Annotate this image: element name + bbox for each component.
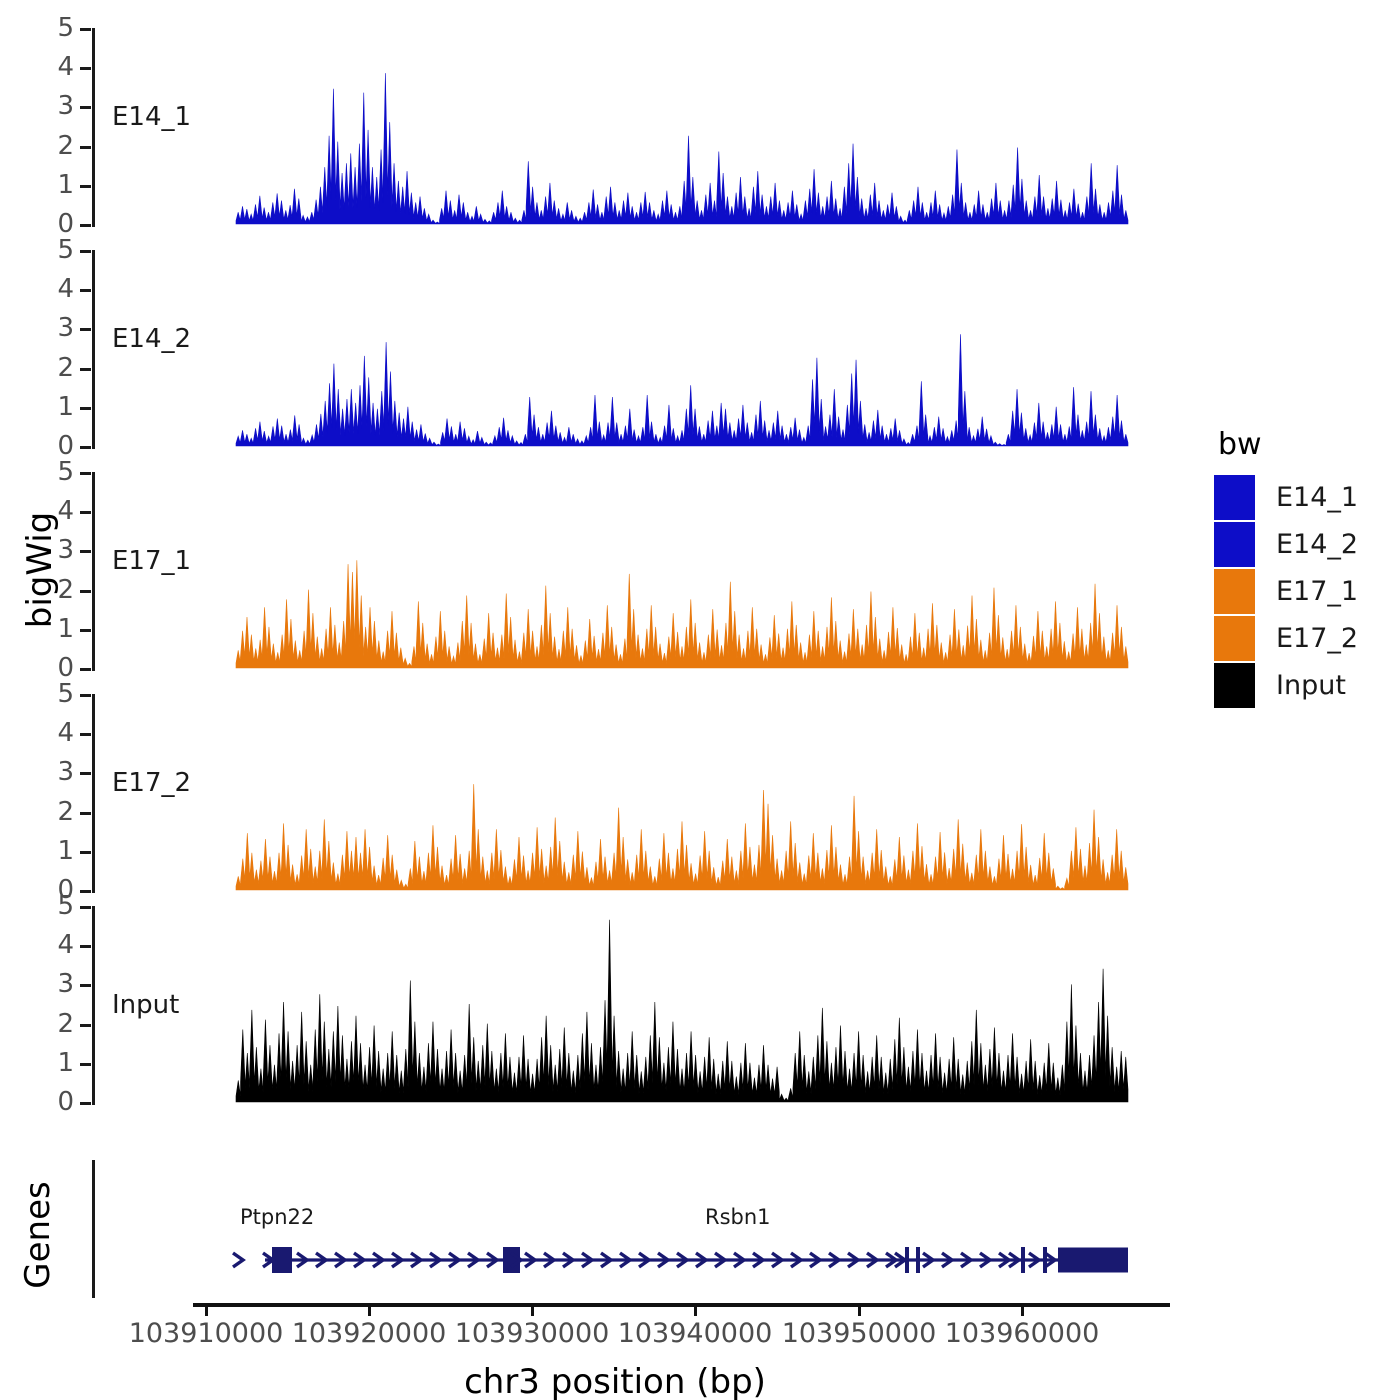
y-tick-label: 5 [48, 15, 74, 41]
y-tick-1 [80, 407, 91, 410]
y-tick-1 [80, 851, 91, 854]
legend-item-e17_1[interactable]: E17_1 [1214, 568, 1394, 615]
y-tick-5 [80, 906, 91, 909]
exon-block [916, 1247, 920, 1273]
y-tick-label: 2 [48, 133, 74, 159]
signal-area-e17_1 [92, 472, 1400, 670]
x-tick-label: 103910000 [129, 1318, 284, 1349]
track-panel-e14_1: 543210E14_1 [0, 28, 1400, 228]
y-tick-label: 3 [48, 971, 74, 997]
y-tick-label: 4 [48, 498, 74, 524]
legend-label: E17_2 [1276, 623, 1358, 654]
y-tick-1 [80, 629, 91, 632]
track-plot-input [92, 906, 1400, 1102]
legend: bw E14_1E14_2E17_1E17_2Input [1214, 430, 1394, 709]
y-tick-label: 2 [48, 577, 74, 603]
x-tick [368, 1303, 371, 1316]
x-tick-label: 103940000 [618, 1318, 773, 1349]
legend-swatch-input [1214, 663, 1255, 708]
y-tick-label: 1 [48, 394, 74, 420]
y-tick-label: 0 [48, 433, 74, 459]
exon-block [503, 1247, 520, 1273]
y-tick-label: 3 [48, 537, 74, 563]
y-tick-2 [80, 1024, 91, 1027]
legend-items: E14_1E14_2E17_1E17_2Input [1214, 474, 1394, 709]
strand-arrow-icon [233, 1253, 243, 1267]
y-tick-5 [80, 28, 91, 31]
y-tick-4 [80, 67, 91, 70]
track-panel-input: 543210Input [0, 906, 1400, 1106]
legend-item-e14_2[interactable]: E14_2 [1214, 521, 1394, 568]
y-tick-label: 4 [48, 720, 74, 746]
y-tick-label: 1 [48, 172, 74, 198]
y-tick-label: 4 [48, 54, 74, 80]
y-tick-label: 3 [48, 315, 74, 341]
y-tick-3 [80, 550, 91, 553]
x-tick-label: 103960000 [945, 1318, 1100, 1349]
legend-label: E14_2 [1276, 529, 1358, 560]
y-tick-label: 3 [48, 93, 74, 119]
gene-track-panel: Ptpn22Rsbn1 [0, 1160, 1400, 1320]
y-tick-label: 0 [48, 1089, 74, 1115]
signal-area-input [92, 906, 1400, 1104]
y-tick-label: 2 [48, 799, 74, 825]
y-tick-4 [80, 289, 91, 292]
exon-block [1058, 1248, 1128, 1273]
legend-item-e17_2[interactable]: E17_2 [1214, 615, 1394, 662]
y-tick-5 [80, 694, 91, 697]
gene-label-rsbn1: Rsbn1 [705, 1205, 771, 1229]
y-tick-0 [80, 224, 91, 227]
y-tick-4 [80, 511, 91, 514]
y-tick-0 [80, 668, 91, 671]
signal-area-e17_2 [92, 694, 1400, 892]
track-plot-e14_1 [92, 28, 1400, 224]
gene-label-ptpn22: Ptpn22 [240, 1205, 314, 1229]
y-tick-1 [80, 185, 91, 188]
track-plot-e17_1 [92, 472, 1400, 668]
track-panel-e14_2: 543210E14_2 [0, 250, 1400, 450]
x-tick [858, 1303, 861, 1316]
y-tick-0 [80, 1102, 91, 1105]
legend-swatch-e14_2 [1214, 522, 1255, 567]
y-tick-label: 0 [48, 211, 74, 237]
legend-swatch-e14_1 [1214, 475, 1255, 520]
y-tick-label: 2 [48, 1011, 74, 1037]
y-tick-label: 5 [48, 237, 74, 263]
y-tick-4 [80, 945, 91, 948]
x-tick [531, 1303, 534, 1316]
track-plot-e17_2 [92, 694, 1400, 890]
track-panel-e17_2: 543210E17_2 [0, 694, 1400, 894]
legend-label: E14_1 [1276, 482, 1358, 513]
signal-area-e14_2 [92, 250, 1400, 448]
exon-block [1043, 1247, 1047, 1273]
legend-item-e14_1[interactable]: E14_1 [1214, 474, 1394, 521]
y-tick-5 [80, 250, 91, 253]
x-tick [205, 1303, 208, 1316]
legend-label: Input [1276, 670, 1346, 701]
legend-title: bw [1218, 430, 1394, 460]
y-tick-label: 1 [48, 616, 74, 642]
legend-label: E17_1 [1276, 576, 1358, 607]
y-tick-0 [80, 890, 91, 893]
track-panel-e17_1: 543210E17_1 [0, 472, 1400, 672]
y-tick-label: 5 [48, 893, 74, 919]
x-axis-title: chr3 position (bp) [0, 1362, 1230, 1400]
y-tick-2 [80, 146, 91, 149]
y-tick-label: 3 [48, 759, 74, 785]
signal-area-e14_1 [92, 28, 1400, 226]
y-tick-0 [80, 446, 91, 449]
y-tick-3 [80, 772, 91, 775]
y-tick-2 [80, 590, 91, 593]
track-plot-e14_2 [92, 250, 1400, 446]
y-tick-4 [80, 733, 91, 736]
legend-swatch-e17_2 [1214, 616, 1255, 661]
y-tick-3 [80, 106, 91, 109]
gene-models: Ptpn22Rsbn1 [92, 1160, 1400, 1320]
y-tick-label: 1 [48, 838, 74, 864]
y-tick-label: 1 [48, 1050, 74, 1076]
y-tick-label: 4 [48, 932, 74, 958]
legend-swatch-e17_1 [1214, 569, 1255, 614]
y-tick-label: 5 [48, 459, 74, 485]
y-tick-5 [80, 472, 91, 475]
y-tick-3 [80, 328, 91, 331]
x-tick [694, 1303, 697, 1316]
x-tick-label: 103920000 [292, 1318, 447, 1349]
y-tick-label: 4 [48, 276, 74, 302]
x-tick-label: 103930000 [455, 1318, 610, 1349]
y-tick-3 [80, 984, 91, 987]
x-tick-label: 103950000 [782, 1318, 937, 1349]
y-tick-1 [80, 1063, 91, 1066]
y-tick-2 [80, 368, 91, 371]
gene-track-plot: Ptpn22Rsbn1 [92, 1160, 1400, 1320]
x-axis: 1039100001039200001039300001039400001039… [0, 1300, 1400, 1400]
figure-canvas: bigWig Genes 543210E14_1543210E14_254321… [0, 0, 1400, 1400]
y-tick-2 [80, 812, 91, 815]
legend-item-input[interactable]: Input [1214, 662, 1394, 709]
y-tick-label: 2 [48, 355, 74, 381]
y-tick-label: 5 [48, 681, 74, 707]
x-tick [1021, 1303, 1024, 1316]
y-tick-label: 0 [48, 655, 74, 681]
